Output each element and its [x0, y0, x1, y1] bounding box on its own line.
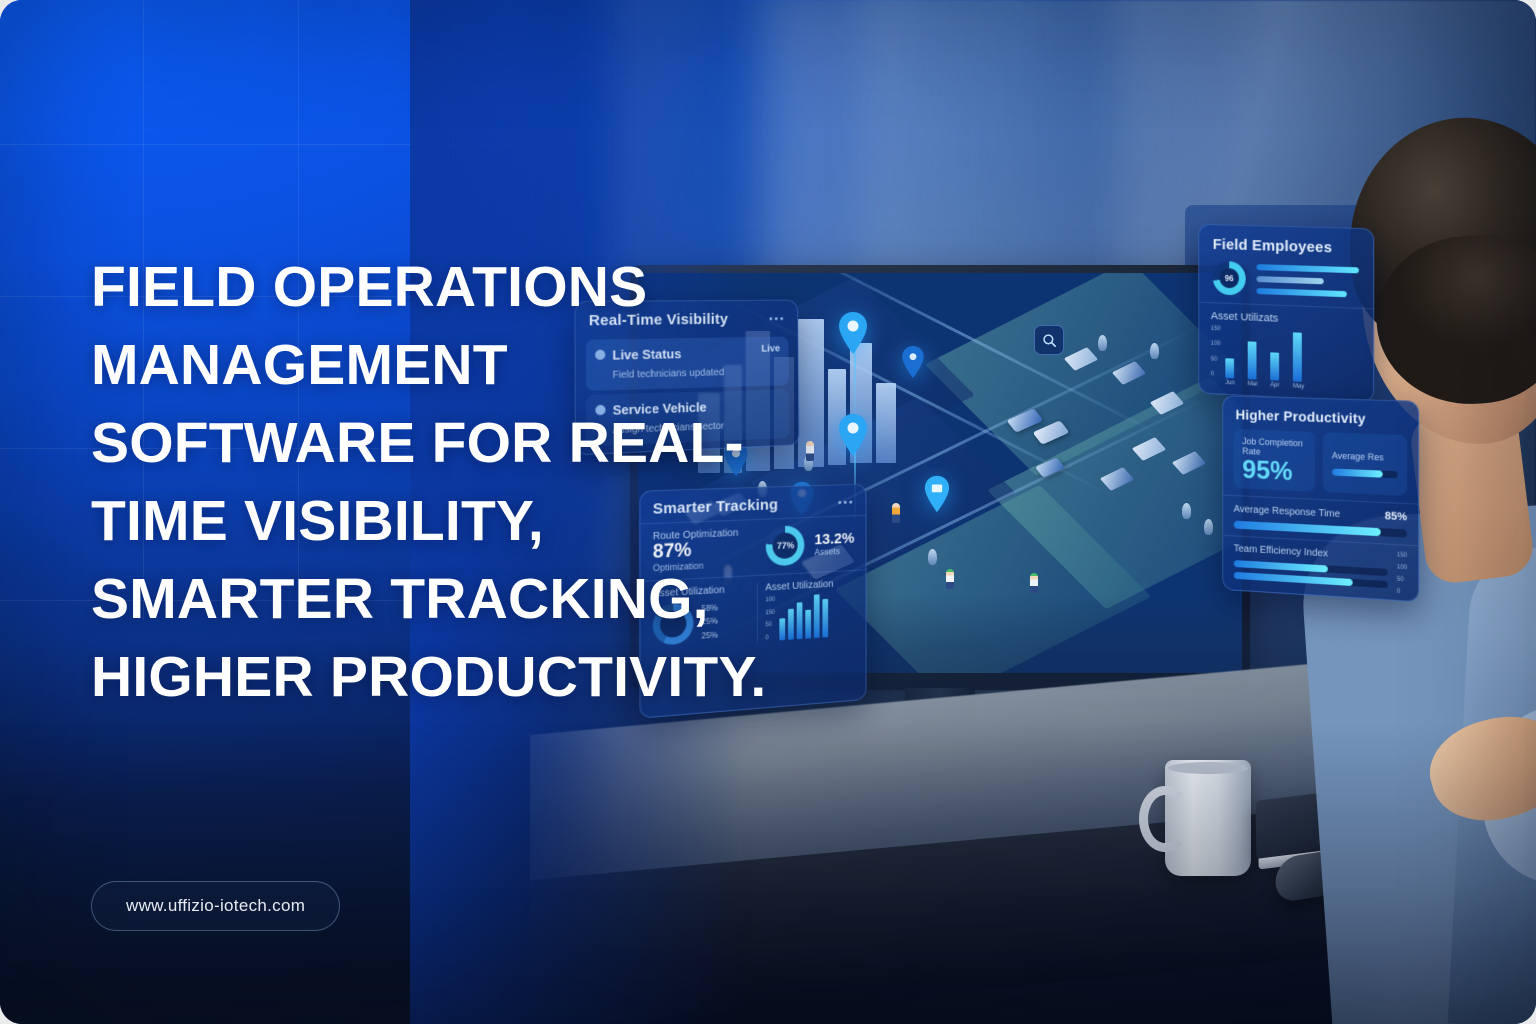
- metric-label: Average Response Time: [1234, 504, 1340, 520]
- bar-chart: [1225, 327, 1361, 385]
- kpi-job-completion: Job Completion Rate 95%: [1234, 429, 1315, 492]
- bar-chart-label: Asset Utilization: [765, 578, 854, 594]
- metric-label: Team Efficiency Index: [1234, 543, 1388, 563]
- y-tick: 0: [1211, 371, 1221, 377]
- bar: [822, 599, 828, 637]
- map-pin-icon[interactable]: [922, 475, 952, 513]
- donut-value: 96: [1213, 261, 1246, 296]
- x-tick: May: [1293, 383, 1302, 389]
- marketing-banner: Real-Time Visibility ••• Live Status Fie…: [0, 0, 1536, 1024]
- progress-bar: [1234, 521, 1407, 538]
- bar: [796, 602, 802, 639]
- assets-label: Assets: [814, 546, 854, 558]
- progress-lines: [1256, 264, 1358, 298]
- bar: [813, 594, 819, 638]
- y-axis: 150 100 50 0: [1211, 326, 1221, 378]
- bar: [805, 610, 811, 639]
- map-pin-icon[interactable]: [900, 345, 926, 379]
- card-higher-productivity[interactable]: Higher Productivity Job Completion Rate …: [1222, 395, 1419, 602]
- progress-bar: [1332, 468, 1398, 478]
- bar: [1270, 352, 1279, 380]
- kpi-label: Average Res: [1332, 450, 1398, 463]
- y-tick: 100: [1397, 564, 1407, 571]
- y-tick: 0: [1397, 589, 1407, 596]
- y-tick: 100: [1211, 341, 1221, 347]
- chart-label: Asset Utilizats: [1211, 310, 1361, 328]
- route-optimization-donut: 77%: [766, 525, 805, 566]
- overflow-menu-icon[interactable]: •••: [838, 496, 854, 508]
- card-field-employees[interactable]: Field Employees 96 Asset Utilizats 150 1…: [1198, 224, 1374, 403]
- card-title: Field Employees: [1199, 225, 1373, 262]
- coffee-mug: [1165, 760, 1251, 876]
- kpi-value: 95%: [1242, 456, 1306, 484]
- bar: [1293, 332, 1302, 381]
- website-url-badge[interactable]: www.uffizio-iotech.com: [91, 881, 340, 931]
- assets-value: 13.2%: [814, 530, 854, 547]
- bar: [1248, 341, 1257, 379]
- bar: [1225, 358, 1234, 378]
- donut-value: 77%: [766, 525, 805, 566]
- url-label: www.uffizio-iotech.com: [126, 896, 305, 915]
- page-title: Field Operations Management Software for…: [91, 248, 771, 716]
- bar-chart: [779, 594, 828, 641]
- y-tick: 50: [1397, 577, 1407, 584]
- employees-donut: 96: [1213, 261, 1246, 296]
- bar: [788, 608, 794, 639]
- y-tick: 150: [1211, 326, 1221, 332]
- metric-value: 85%: [1385, 510, 1407, 523]
- kpi-average-response-mini: Average Res: [1323, 432, 1407, 496]
- x-tick: Jun: [1225, 380, 1234, 386]
- x-tick: Mar: [1248, 381, 1257, 387]
- overflow-menu-icon[interactable]: •••: [769, 313, 785, 325]
- y-tick: 150: [1397, 552, 1407, 559]
- search-icon: [1042, 333, 1057, 348]
- map-pin-icon[interactable]: [836, 311, 870, 355]
- map-search-button[interactable]: [1034, 325, 1064, 355]
- bar: [779, 618, 785, 641]
- x-tick: Apr: [1270, 382, 1279, 388]
- y-axis: 150 100 50 0: [1397, 552, 1407, 595]
- y-tick: 50: [1211, 356, 1221, 362]
- map-pin-icon[interactable]: [836, 413, 870, 457]
